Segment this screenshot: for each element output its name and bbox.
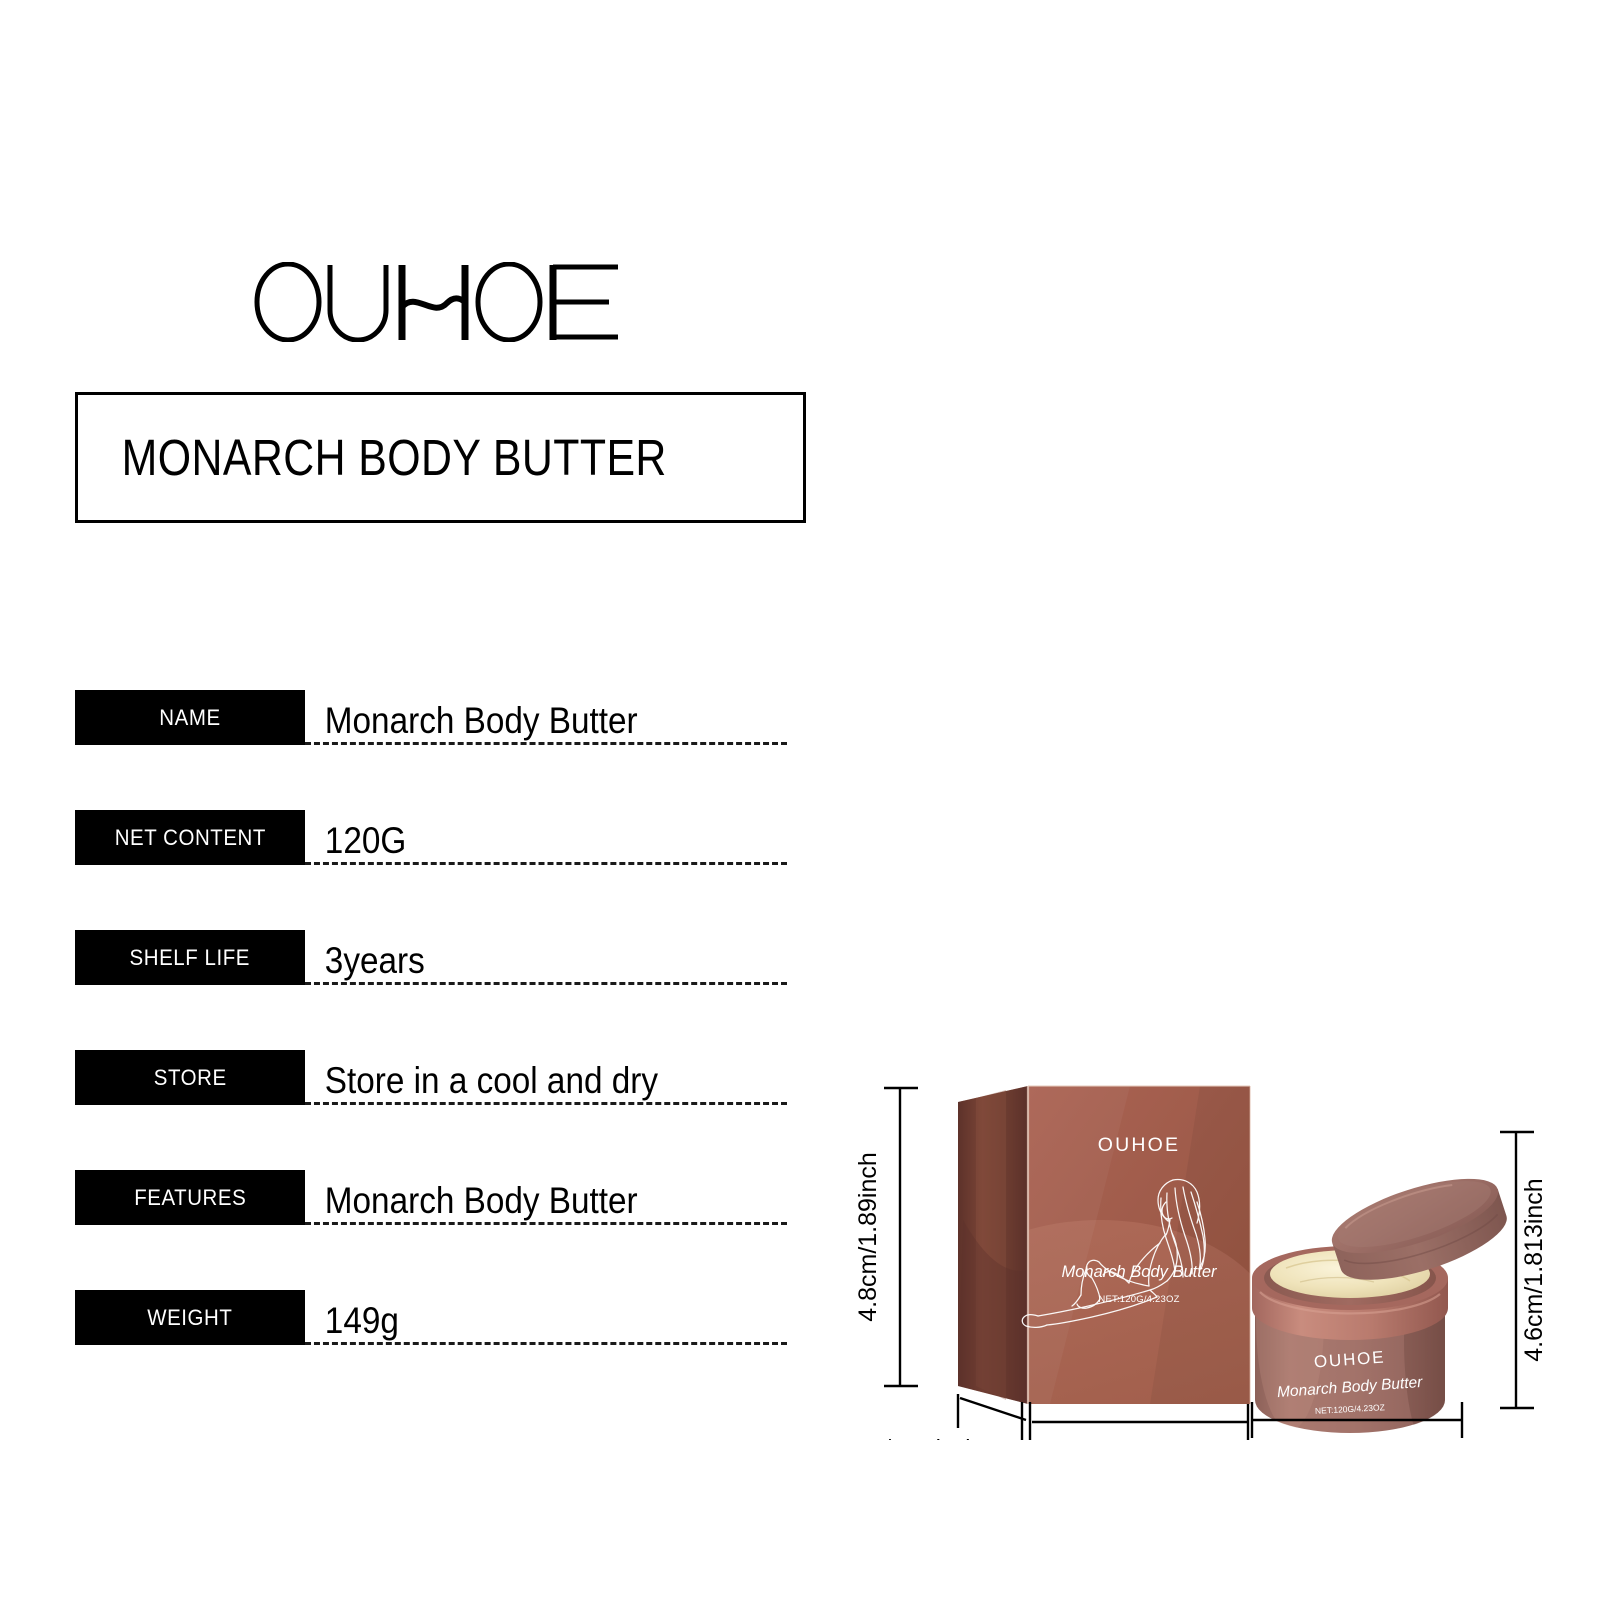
page-title: MONARCH BODY BUTTER	[78, 428, 667, 487]
spec-value-cell-weight: 149g	[305, 1290, 787, 1345]
spec-value-text: Store in a cool and dry	[305, 1062, 658, 1102]
spec-value-text: 3years	[305, 942, 425, 982]
table-row: NET CONTENT 120G	[75, 810, 787, 865]
spec-value-cell-store: Store in a cool and dry	[305, 1050, 787, 1105]
dim-box-height: 4.8cm/1.89inch	[854, 1152, 882, 1322]
spec-value-cell-features: Monarch Body Butter	[305, 1170, 787, 1225]
spec-label-text: WEIGHT	[147, 1305, 232, 1331]
table-row: FEATURES Monarch Body Butter	[75, 1170, 787, 1225]
spec-label-text: NAME	[159, 705, 220, 731]
brand-logo	[250, 262, 630, 342]
spec-label-text: SHELF LIFE	[130, 945, 250, 971]
table-row: SHELF LIFE 3years	[75, 930, 787, 985]
spec-label-text: STORE	[154, 1065, 227, 1091]
box-product-name: Monarch Body Butter	[1062, 1263, 1218, 1281]
product-title-box: MONARCH BODY BUTTER	[75, 392, 806, 523]
table-row: NAME Monarch Body Butter	[75, 690, 787, 745]
spec-value-text: Monarch Body Butter	[305, 702, 638, 742]
spec-value-text: 120G	[305, 822, 406, 862]
spec-value-text: 149g	[305, 1302, 399, 1342]
spec-label-net-content: NET CONTENT	[75, 810, 305, 865]
spec-label-shelf-life: SHELF LIFE	[75, 930, 305, 985]
spec-label-features: FEATURES	[75, 1170, 305, 1225]
ouhoe-wordmark-icon	[250, 262, 630, 342]
table-row: WEIGHT 149g	[75, 1290, 787, 1345]
dim-jar-height: 4.6cm/1.813inch	[1520, 1178, 1548, 1361]
spec-label-text: FEATURES	[134, 1185, 246, 1211]
product-image-with-dimensions: OUHOE	[800, 1020, 1600, 1440]
table-row: STORE Store in a cool and dry	[75, 1050, 787, 1105]
spec-label-store: STORE	[75, 1050, 305, 1105]
spec-value-cell-shelf-life: 3years	[305, 930, 787, 985]
spec-label-text: NET CONTENT	[114, 825, 265, 851]
spec-value-text: Monarch Body Butter	[305, 1182, 638, 1222]
spec-value-cell-net-content: 120G	[305, 810, 787, 865]
dim-box-depth: 7.1cm/2.80inch	[822, 1435, 978, 1440]
box-logo-text: OUHOE	[1098, 1134, 1181, 1156]
spec-label-weight: WEIGHT	[75, 1290, 305, 1345]
spec-label-name: NAME	[75, 690, 305, 745]
spec-value-cell-name: Monarch Body Butter	[305, 690, 787, 745]
spec-table: NAME Monarch Body Butter NET CONTENT 120…	[75, 690, 787, 1345]
box-net-weight: NET:120G/4.23OZ	[1098, 1294, 1179, 1305]
